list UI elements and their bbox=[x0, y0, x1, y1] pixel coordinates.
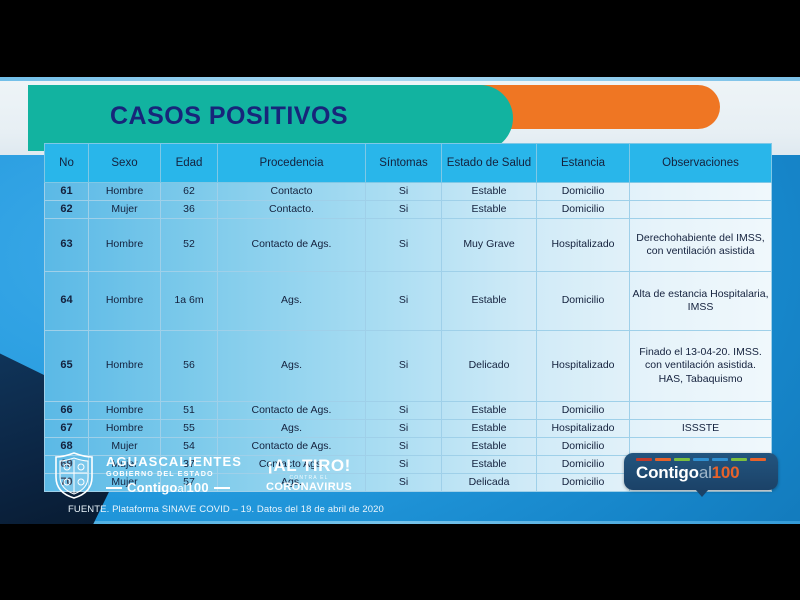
presentation-slide: CASOS POSITIVOS No Sexo Edad Procedencia bbox=[0, 77, 800, 524]
cell-observaciones: ISSSTE bbox=[630, 420, 772, 438]
cell-sexo: Hombre bbox=[89, 420, 161, 438]
aguascalientes-coat-of-arms-icon bbox=[52, 451, 96, 499]
cell-sintomas: Si bbox=[366, 331, 442, 402]
badge-stripe-1 bbox=[655, 458, 671, 461]
badge-contigo: Contigo bbox=[636, 463, 699, 482]
cell-edad: 62 bbox=[161, 183, 218, 201]
cell-estado-salud: Estable bbox=[442, 420, 537, 438]
table-row: 61Hombre62ContactoSiEstableDomicilio bbox=[45, 183, 772, 201]
cell-no: 67 bbox=[45, 420, 89, 438]
altiro-coronavirus-logo: ¡AL TIRO! CONTRA EL CORONAVIRUS bbox=[266, 457, 352, 493]
table-row: 62Mujer36Contacto.SiEstableDomicilio bbox=[45, 201, 772, 219]
cell-sexo: Hombre bbox=[89, 402, 161, 420]
logo-divider-left bbox=[106, 487, 122, 489]
cell-sintomas: Si bbox=[366, 402, 442, 420]
cell-procedencia: Ags. bbox=[218, 420, 366, 438]
cell-procedencia: Contacto de Ags. bbox=[218, 219, 366, 272]
altiro-middle: CONTRA EL bbox=[266, 476, 352, 481]
cell-estado-salud: Estable bbox=[442, 402, 537, 420]
badge-stripe-5 bbox=[731, 458, 747, 461]
cell-estancia: Domicilio bbox=[537, 183, 630, 201]
cell-sexo: Hombre bbox=[89, 272, 161, 331]
cell-sexo: Hombre bbox=[89, 183, 161, 201]
cell-estado-salud: Estable bbox=[442, 201, 537, 219]
altiro-line2: CORONAVIRUS bbox=[266, 482, 352, 493]
col-header-estado-salud: Estado de Salud bbox=[442, 144, 537, 183]
logo-divider-row: Contigoal100 bbox=[106, 481, 242, 495]
cell-sintomas: Si bbox=[366, 219, 442, 272]
cell-procedencia: Ags. bbox=[218, 272, 366, 331]
cell-estancia: Hospitalizado bbox=[537, 420, 630, 438]
page-title: CASOS POSITIVOS bbox=[110, 102, 348, 131]
col-header-edad: Edad bbox=[161, 144, 218, 183]
cell-no: 64 bbox=[45, 272, 89, 331]
cell-sexo: Hombre bbox=[89, 331, 161, 402]
badge-stripe-6 bbox=[750, 458, 766, 461]
cell-estado-salud: Muy Grave bbox=[442, 219, 537, 272]
logo-100-word: 100 bbox=[186, 480, 208, 495]
col-header-procedencia: Procedencia bbox=[218, 144, 366, 183]
cell-observaciones: Finado el 13-04-20. IMSS. con ventilació… bbox=[630, 331, 772, 402]
table-row: 63Hombre52Contacto de Ags.SiMuy GraveHos… bbox=[45, 219, 772, 272]
logo-divider-right bbox=[214, 487, 230, 489]
cell-observaciones: Derechohabiente del IMSS, con ventilació… bbox=[630, 219, 772, 272]
footer-logos: AGUASCALIENTES GOBIERNO DEL ESTADO Conti… bbox=[52, 451, 352, 499]
badge-stripe-0 bbox=[636, 458, 652, 461]
badge-color-stripes bbox=[636, 458, 766, 461]
cell-sintomas: Si bbox=[366, 272, 442, 331]
cases-table: No Sexo Edad Procedencia Síntomas Estado… bbox=[44, 143, 772, 492]
cell-no: 61 bbox=[45, 183, 89, 201]
logo-contigo-word: Contigo bbox=[127, 480, 178, 495]
badge-100: 100 bbox=[712, 463, 740, 482]
cell-sintomas: Si bbox=[366, 183, 442, 201]
cases-table-body: 61Hombre62ContactoSiEstableDomicilio62Mu… bbox=[45, 183, 772, 492]
cell-procedencia: Contacto bbox=[218, 183, 366, 201]
logo-line-gobierno: GOBIERNO DEL ESTADO bbox=[106, 470, 242, 477]
col-header-sexo: Sexo bbox=[89, 144, 161, 183]
gobierno-estado-logo-text: AGUASCALIENTES GOBIERNO DEL ESTADO Conti… bbox=[106, 455, 242, 494]
cell-estancia: Hospitalizado bbox=[537, 331, 630, 402]
cell-edad: 51 bbox=[161, 402, 218, 420]
cell-estancia: Domicilio bbox=[537, 272, 630, 331]
logo-line-contigo: Contigoal100 bbox=[127, 481, 209, 495]
table-row: 66Hombre51Contacto de Ags.SiEstableDomic… bbox=[45, 402, 772, 420]
cell-edad: 1a 6m bbox=[161, 272, 218, 331]
slide-footer: AGUASCALIENTES GOBIERNO DEL ESTADO Conti… bbox=[0, 449, 800, 524]
contigo-al-100-badge: Contigoal100 bbox=[624, 453, 778, 490]
source-footnote: FUENTE. Plataforma SINAVE COVID – 19. Da… bbox=[68, 504, 384, 515]
cell-estado-salud: Estable bbox=[442, 272, 537, 331]
cases-table-container: No Sexo Edad Procedencia Síntomas Estado… bbox=[44, 143, 771, 492]
cell-sintomas: Si bbox=[366, 201, 442, 219]
table-row: 67Hombre55Ags.SiEstableHospitalizadoISSS… bbox=[45, 420, 772, 438]
cell-estado-salud: Estable bbox=[442, 183, 537, 201]
cell-procedencia: Ags. bbox=[218, 331, 366, 402]
cell-no: 66 bbox=[45, 402, 89, 420]
cell-edad: 55 bbox=[161, 420, 218, 438]
cell-observaciones bbox=[630, 183, 772, 201]
cell-observaciones bbox=[630, 402, 772, 420]
table-row: 64Hombre1a 6mAgs.SiEstableDomicilioAlta … bbox=[45, 272, 772, 331]
cell-procedencia: Contacto. bbox=[218, 201, 366, 219]
col-header-observaciones: Observaciones bbox=[630, 144, 772, 183]
col-header-sintomas: Síntomas bbox=[366, 144, 442, 183]
cell-edad: 36 bbox=[161, 201, 218, 219]
cell-edad: 56 bbox=[161, 331, 218, 402]
cell-procedencia: Contacto de Ags. bbox=[218, 402, 366, 420]
col-header-no: No bbox=[45, 144, 89, 183]
cell-no: 65 bbox=[45, 331, 89, 402]
cell-sexo: Mujer bbox=[89, 201, 161, 219]
badge-stripe-4 bbox=[712, 458, 728, 461]
cell-estancia: Domicilio bbox=[537, 402, 630, 420]
table-row: 65Hombre56Ags.SiDelicadoHospitalizadoFin… bbox=[45, 331, 772, 402]
cell-no: 63 bbox=[45, 219, 89, 272]
logo-line-aguascalientes: AGUASCALIENTES bbox=[106, 455, 242, 468]
screenshot-canvas: CASOS POSITIVOS No Sexo Edad Procedencia bbox=[0, 0, 800, 600]
cell-observaciones: Alta de estancia Hospitalaria, IMSS bbox=[630, 272, 772, 331]
badge-text: Contigoal100 bbox=[636, 463, 766, 483]
cell-estancia: Domicilio bbox=[537, 201, 630, 219]
cell-sintomas: Si bbox=[366, 420, 442, 438]
col-header-estancia: Estancia bbox=[537, 144, 630, 183]
cell-estado-salud: Delicado bbox=[442, 331, 537, 402]
cell-sexo: Hombre bbox=[89, 219, 161, 272]
table-header-row: No Sexo Edad Procedencia Síntomas Estado… bbox=[45, 144, 772, 183]
badge-stripe-3 bbox=[693, 458, 709, 461]
cell-edad: 52 bbox=[161, 219, 218, 272]
altiro-line1: ¡AL TIRO! bbox=[266, 457, 352, 474]
cell-no: 62 bbox=[45, 201, 89, 219]
badge-stripe-2 bbox=[674, 458, 690, 461]
badge-al: al bbox=[699, 463, 712, 482]
cell-estancia: Hospitalizado bbox=[537, 219, 630, 272]
cell-observaciones bbox=[630, 201, 772, 219]
